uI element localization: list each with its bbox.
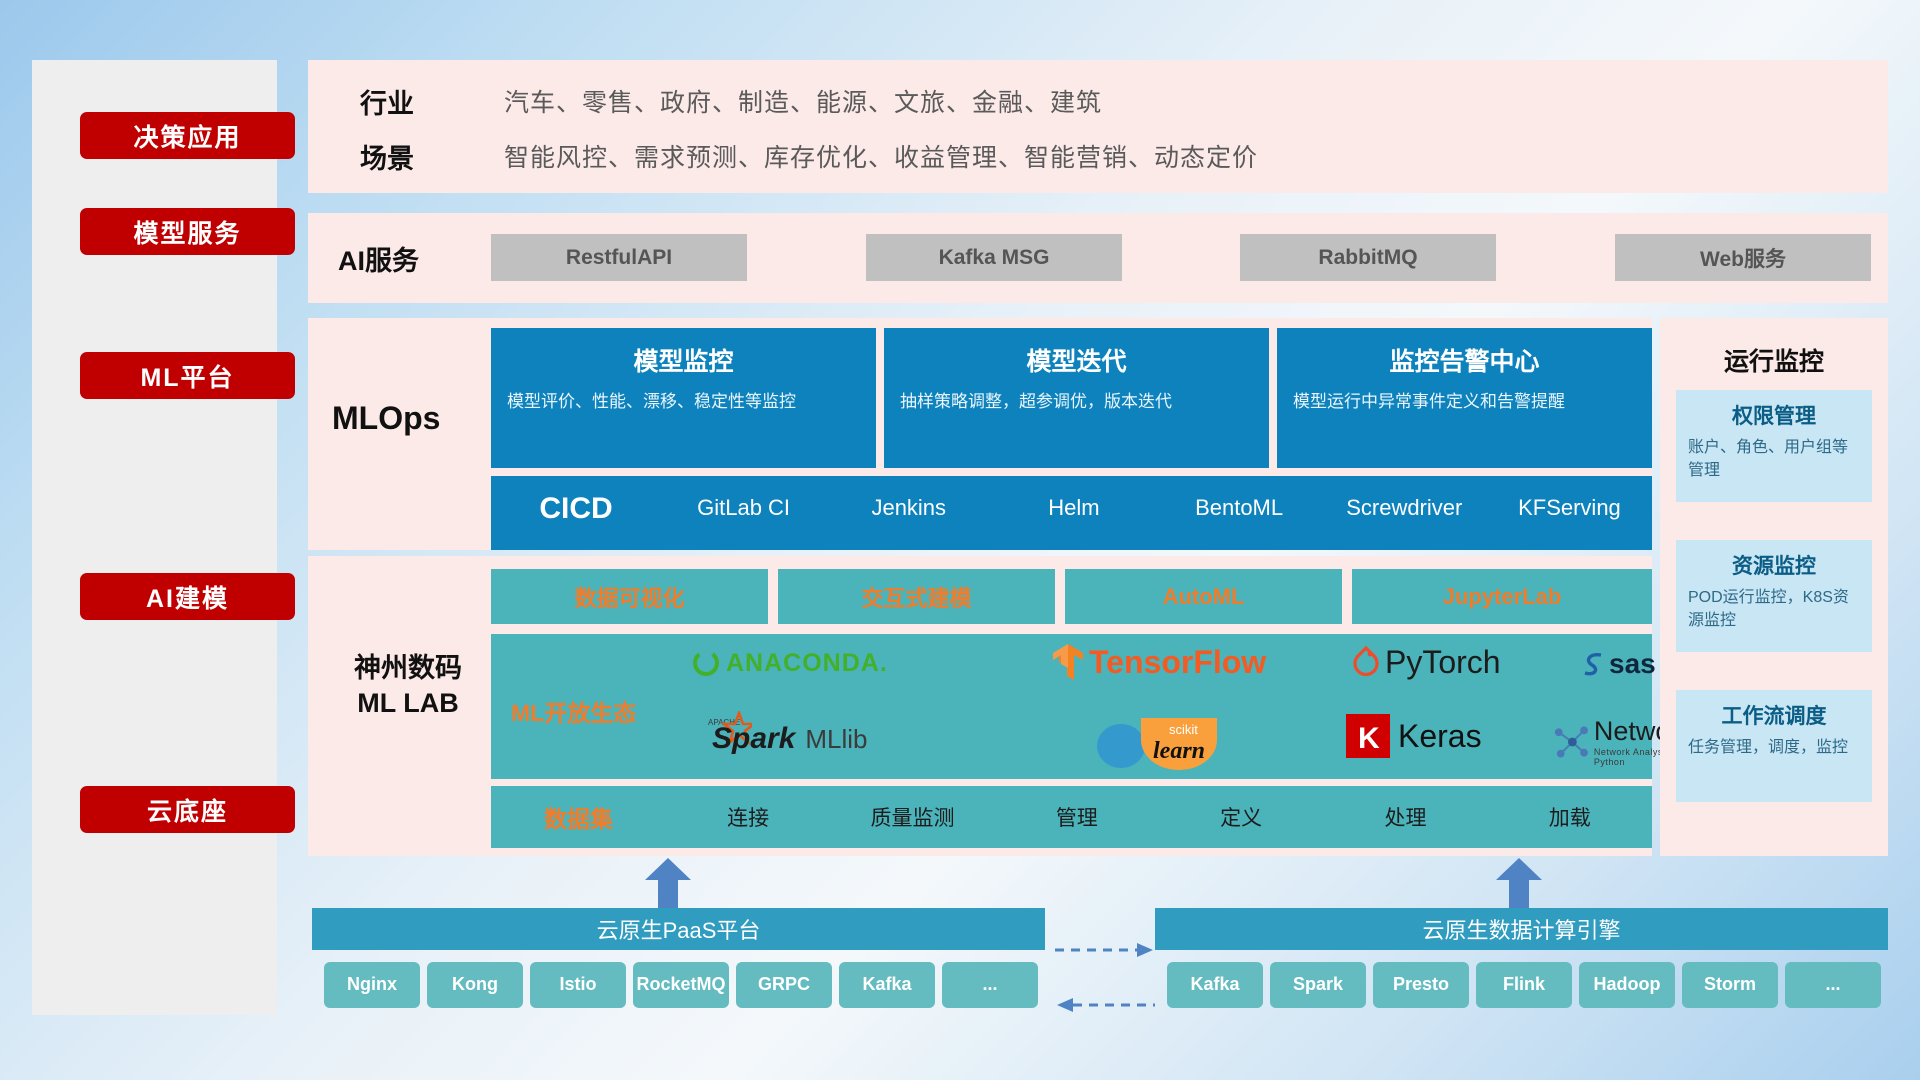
anaconda-logo: ANACONDA. <box>691 648 888 678</box>
paas-tile-rocketmq[interactable]: RocketMQ <box>633 962 729 1008</box>
architecture-diagram: 决策应用 模型服务 ML平台 AI建模 云底座 行业 汽车、零售、政府、制造、能… <box>0 0 1920 1080</box>
mllib-logo-text: MLlib <box>805 724 867 755</box>
paas-tile-kafka[interactable]: Kafka <box>839 962 935 1008</box>
dataset-item-manage[interactable]: 管理 <box>995 802 1159 832</box>
mlops-card-desc: 抽样策略调整，超参调优，版本迭代 <box>900 390 1253 415</box>
cicd-title: CICD <box>491 492 661 526</box>
mlops-card-title: 模型监控 <box>507 342 860 378</box>
engine-tile-presto[interactable]: Presto <box>1373 962 1469 1008</box>
arrow-up-right <box>1495 858 1543 913</box>
engine-tile-kafka[interactable]: Kafka <box>1167 962 1263 1008</box>
tensorflow-logo-text: TensorFlow <box>1089 644 1266 681</box>
rail-chip-decision[interactable]: 决策应用 <box>80 112 295 159</box>
monitoring-card-workflow[interactable]: 工作流调度 任务管理，调度，监控 <box>1676 690 1872 802</box>
tensorflow-logo: TensorFlow <box>1051 642 1266 682</box>
monitoring-card-title: 工作流调度 <box>1688 700 1860 730</box>
service-chip-kafka-msg[interactable]: Kafka MSG <box>866 234 1122 281</box>
tool-chip-interactive-modeling[interactable]: 交互式建模 <box>778 569 1055 624</box>
ml-ecosystem-label: ML开放生态 <box>511 694 636 728</box>
ml-lab-label-line1: 神州数码 <box>328 651 488 686</box>
monitoring-title: 运行监控 <box>1660 342 1888 378</box>
svg-text:learn: learn <box>1153 738 1205 764</box>
mlops-card-title: 模型迭代 <box>900 342 1253 378</box>
dataset-item-connect[interactable]: 连接 <box>666 802 830 832</box>
monitoring-card-title: 资源监控 <box>1688 550 1860 580</box>
arrow-dashed-right <box>1055 940 1155 965</box>
arrow-dashed-left <box>1055 995 1155 1020</box>
dataset-band: 数据集 连接 质量监测 管理 定义 处理 加载 <box>491 786 1652 848</box>
cicd-item-screwdriver[interactable]: Screwdriver <box>1322 492 1487 520</box>
industry-scenario-panel: 行业 汽车、零售、政府、制造、能源、文旅、金融、建筑 场景 智能风控、需求预测、… <box>308 60 1888 193</box>
mlops-panel: MLOps 模型监控 模型评价、性能、漂移、稳定性等监控 模型迭代 抽样策略调整… <box>308 318 1652 550</box>
paas-tile-more[interactable]: ... <box>942 962 1038 1008</box>
monitoring-panel: 运行监控 权限管理 账户、角色、用户组等管理 资源监控 POD运行监控，K8S资… <box>1660 318 1888 856</box>
pytorch-logo: PyTorch <box>1351 644 1501 681</box>
rail-chip-ai-modeling[interactable]: AI建模 <box>80 573 295 620</box>
paas-header: 云原生PaaS平台 <box>312 908 1045 950</box>
tool-chip-jupyterlab[interactable]: JupyterLab <box>1352 569 1652 624</box>
monitoring-card-permissions[interactable]: 权限管理 账户、角色、用户组等管理 <box>1676 390 1872 502</box>
ml-lab-label-line2: ML LAB <box>328 686 488 721</box>
mlops-label: MLOps <box>332 318 440 518</box>
paas-tile-grpc[interactable]: GRPC <box>736 962 832 1008</box>
mlops-card-desc: 模型评价、性能、漂移、稳定性等监控 <box>507 390 860 415</box>
spark-logo-text: Spark <box>712 722 795 756</box>
ai-service-label: AI服务 <box>338 213 419 303</box>
tool-chip-automl[interactable]: AutoML <box>1065 569 1342 624</box>
dataset-item-define[interactable]: 定义 <box>1159 802 1323 832</box>
service-chip-web-service[interactable]: Web服务 <box>1615 234 1871 281</box>
tool-chip-data-visualization[interactable]: 数据可视化 <box>491 569 768 624</box>
spark-mllib-logo: APACHE Spark MLlib <box>706 710 868 756</box>
rail-chip-ml-platform[interactable]: ML平台 <box>80 352 295 399</box>
mlops-card-model-iteration[interactable]: 模型迭代 抽样策略调整，超参调优，版本迭代 <box>884 328 1269 468</box>
sas-logo-text: sas <box>1609 648 1656 680</box>
dataset-item-process[interactable]: 处理 <box>1323 802 1487 832</box>
monitoring-card-desc: 任务管理，调度，监控 <box>1688 737 1860 760</box>
cicd-item-helm[interactable]: Helm <box>991 492 1156 520</box>
svg-text:K: K <box>1358 722 1380 755</box>
engine-tile-hadoop[interactable]: Hadoop <box>1579 962 1675 1008</box>
scenario-value: 智能风控、需求预测、库存优化、收益管理、智能营销、动态定价 <box>504 138 1258 174</box>
sas-logo: sas <box>1579 648 1656 680</box>
cicd-bar: CICD GitLab CI Jenkins Helm BentoML Scre… <box>491 476 1652 550</box>
cicd-item-kfserving[interactable]: KFServing <box>1487 492 1652 520</box>
mlops-card-model-monitoring[interactable]: 模型监控 模型评价、性能、漂移、稳定性等监控 <box>491 328 876 468</box>
cicd-item-bentoml[interactable]: BentoML <box>1157 492 1322 520</box>
engine-tile-storm[interactable]: Storm <box>1682 962 1778 1008</box>
data-engine-header: 云原生数据计算引擎 <box>1155 908 1888 950</box>
mlops-card-desc: 模型运行中异常事件定义和告警提醒 <box>1293 390 1636 415</box>
monitoring-card-desc: POD运行监控，K8S资源监控 <box>1688 587 1860 632</box>
ai-service-panel: AI服务 RestfulAPI Kafka MSG RabbitMQ Web服务 <box>308 213 1888 303</box>
industry-value: 汽车、零售、政府、制造、能源、文旅、金融、建筑 <box>504 83 1102 119</box>
engine-tile-flink[interactable]: Flink <box>1476 962 1572 1008</box>
engine-tile-more[interactable]: ... <box>1785 962 1881 1008</box>
svg-text:scikit: scikit <box>1169 722 1198 737</box>
service-chip-restfulapi[interactable]: RestfulAPI <box>491 234 747 281</box>
pytorch-logo-text: PyTorch <box>1385 644 1501 681</box>
rail-chip-cloud-base[interactable]: 云底座 <box>80 786 295 833</box>
ai-modeling-panel: 神州数码 ML LAB 数据可视化 交互式建模 AutoML JupyterLa… <box>308 556 1652 856</box>
dataset-item-load[interactable]: 加载 <box>1488 802 1652 832</box>
scikit-learn-logo: scikit learn <box>1091 712 1241 770</box>
ml-ecosystem-band: ML开放生态 ANACONDA. TensorFlow PyTorch sas <box>491 634 1652 779</box>
engine-tile-spark[interactable]: Spark <box>1270 962 1366 1008</box>
monitoring-card-title: 权限管理 <box>1688 400 1860 430</box>
rail-chip-model-service[interactable]: 模型服务 <box>80 208 295 255</box>
anaconda-logo-text: ANACONDA. <box>726 649 888 678</box>
cicd-item-jenkins[interactable]: Jenkins <box>826 492 991 520</box>
mlops-card-alert-center[interactable]: 监控告警中心 模型运行中异常事件定义和告警提醒 <box>1277 328 1652 468</box>
left-rail: 决策应用 模型服务 ML平台 AI建模 云底座 <box>32 60 277 1015</box>
arrow-up-left <box>644 858 692 913</box>
monitoring-card-resources[interactable]: 资源监控 POD运行监控，K8S资源监控 <box>1676 540 1872 652</box>
paas-tile-nginx[interactable]: Nginx <box>324 962 420 1008</box>
cicd-item-gitlab-ci[interactable]: GitLab CI <box>661 492 826 520</box>
dataset-title: 数据集 <box>491 800 666 834</box>
paas-tile-kong[interactable]: Kong <box>427 962 523 1008</box>
monitoring-card-desc: 账户、角色、用户组等管理 <box>1688 437 1860 482</box>
dataset-item-quality[interactable]: 质量监测 <box>830 802 994 832</box>
industry-key: 行业 <box>360 82 414 121</box>
paas-tile-istio[interactable]: Istio <box>530 962 626 1008</box>
scenario-key: 场景 <box>360 137 414 176</box>
keras-logo-text: Keras <box>1398 718 1482 755</box>
keras-logo: K Keras <box>1346 714 1482 758</box>
ml-lab-label: 神州数码 ML LAB <box>328 651 488 721</box>
service-chip-rabbitmq[interactable]: RabbitMQ <box>1240 234 1496 281</box>
mlops-card-title: 监控告警中心 <box>1293 342 1636 378</box>
